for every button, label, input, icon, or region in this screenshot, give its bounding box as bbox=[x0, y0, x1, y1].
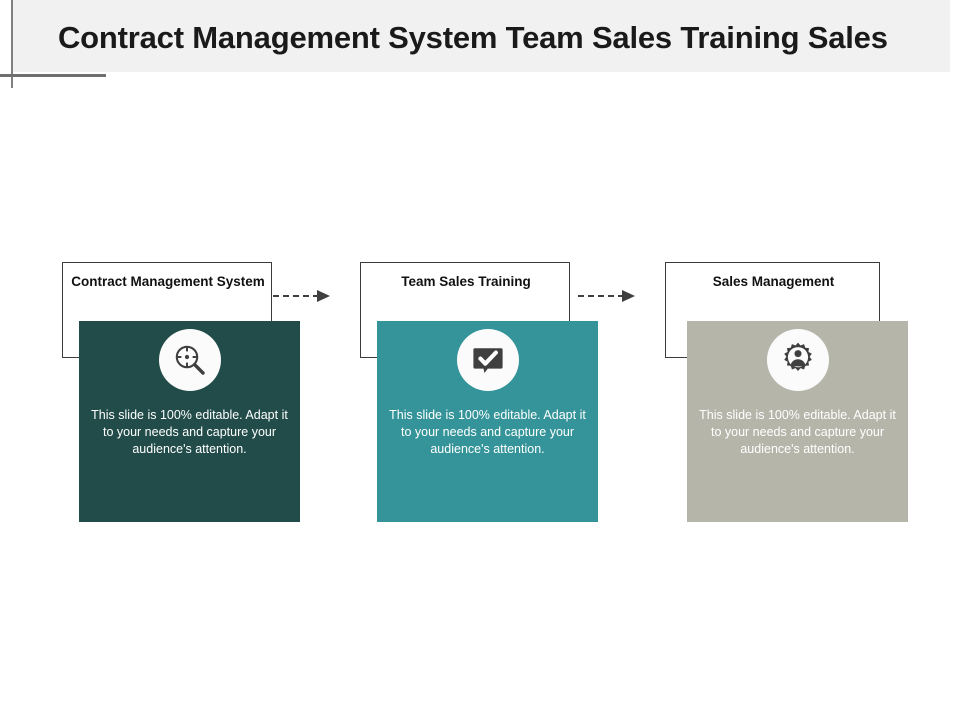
header-horizontal-rule bbox=[0, 74, 106, 77]
arrow-card2-to-card3 bbox=[578, 290, 637, 302]
card-color-block: This slide is 100% editable. Adapt it to… bbox=[79, 321, 300, 522]
icon-badge bbox=[159, 329, 221, 391]
slide-canvas: Contract Management System Team Sales Tr… bbox=[0, 0, 960, 720]
card-body-text: This slide is 100% editable. Adapt it to… bbox=[697, 407, 898, 458]
arrow-head-icon bbox=[317, 290, 330, 302]
arrow-card1-to-card2 bbox=[273, 290, 332, 302]
card-title: Team Sales Training bbox=[367, 272, 565, 291]
icon-badge bbox=[767, 329, 829, 391]
magnifier-target-icon bbox=[171, 341, 209, 379]
arrow-line bbox=[578, 295, 624, 297]
checkmark-speech-bubble-icon bbox=[469, 341, 507, 379]
gear-person-icon bbox=[779, 341, 817, 379]
card-title: Sales Management bbox=[672, 272, 875, 291]
icon-badge bbox=[457, 329, 519, 391]
card-color-block: This slide is 100% editable. Adapt it to… bbox=[687, 321, 908, 522]
card-title: Contract Management System bbox=[69, 272, 267, 291]
card-body-text: This slide is 100% editable. Adapt it to… bbox=[387, 407, 588, 458]
page-title: Contract Management System Team Sales Tr… bbox=[58, 16, 938, 60]
card-color-block: This slide is 100% editable. Adapt it to… bbox=[377, 321, 598, 522]
arrow-head-icon bbox=[622, 290, 635, 302]
card-body-text: This slide is 100% editable. Adapt it to… bbox=[89, 407, 290, 458]
arrow-line bbox=[273, 295, 319, 297]
